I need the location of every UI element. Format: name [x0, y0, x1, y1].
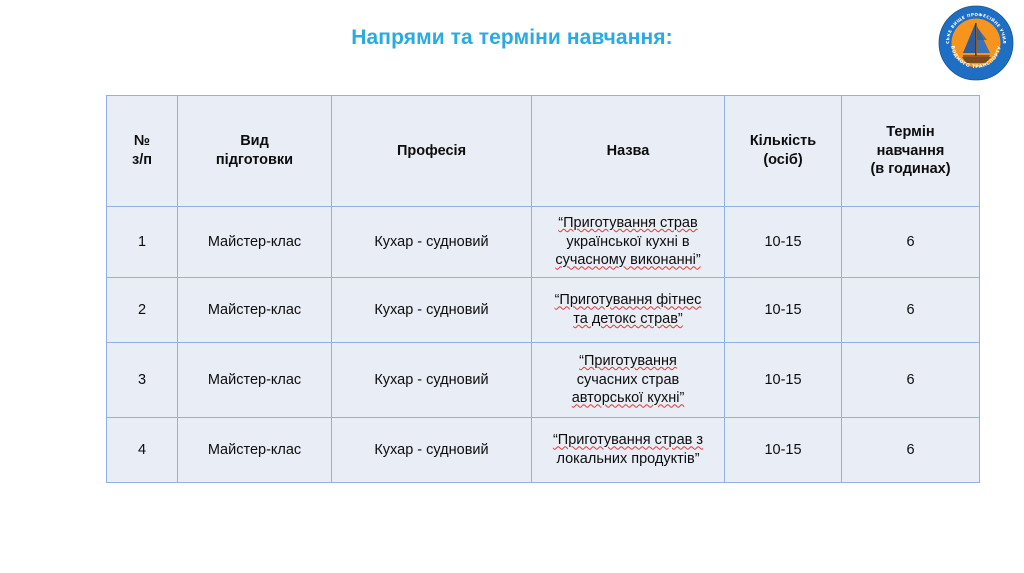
cell-number: 1 [107, 207, 178, 278]
column-header-name: Назва [532, 96, 725, 207]
cell-count: 10-15 [725, 278, 842, 343]
cell-training-type: Майстер-клас [178, 207, 332, 278]
cell-profession: Кухар - судновий [332, 278, 532, 343]
cell-training-type: Майстер-клас [178, 343, 332, 418]
name-line: сучасному виконанні” [555, 252, 700, 268]
cell-count: 10-15 [725, 418, 842, 483]
cell-duration: 6 [842, 418, 980, 483]
name-line: локальних продуктів” [556, 451, 699, 467]
cell-name: “Приготування фітнес та детокс страв” [532, 278, 725, 343]
page-title: Напрями та терміни навчання: [0, 26, 1024, 50]
cell-number: 4 [107, 418, 178, 483]
table-body: 1 Майстер-клас Кухар - судновий “Приготу… [107, 207, 980, 483]
cell-number: 3 [107, 343, 178, 418]
college-emblem-logo: КИЇВСЬКЕ ВИЩЕ ПРОФЕСІЙНЕ УЧИЛИЩЕ ВОДНОГО… [936, 3, 1016, 83]
column-header-count: Кількість (осіб) [725, 96, 842, 207]
name-line: сучасних страв [577, 372, 679, 388]
cell-profession: Кухар - судновий [332, 207, 532, 278]
cell-training-type: Майстер-клас [178, 278, 332, 343]
table-row: 4 Майстер-клас Кухар - судновий “Приготу… [107, 418, 980, 483]
header-line: Вид [240, 133, 269, 149]
cell-count: 10-15 [725, 343, 842, 418]
header-line: навчання [877, 143, 945, 159]
cell-profession: Кухар - судновий [332, 343, 532, 418]
name-line: “Приготування [579, 353, 677, 369]
cell-duration: 6 [842, 278, 980, 343]
name-line: “Приготування страв з [553, 432, 703, 448]
cell-duration: 6 [842, 207, 980, 278]
cell-name: “Приготування страв з локальних продукті… [532, 418, 725, 483]
name-line: та детокс страв” [573, 311, 683, 327]
cell-count: 10-15 [725, 207, 842, 278]
header-line: з/п [132, 152, 152, 168]
column-header-profession: Професія [332, 96, 532, 207]
column-header-duration: Термін навчання (в годинах) [842, 96, 980, 207]
table-row: 2 Майстер-клас Кухар - судновий “Приготу… [107, 278, 980, 343]
cell-profession: Кухар - судновий [332, 418, 532, 483]
header-line: Термін [886, 124, 934, 140]
name-line: української кухні в [566, 234, 689, 250]
table-header-row: № з/п Вид підготовки Професія Назва Кіль [107, 96, 980, 207]
table-header: № з/п Вид підготовки Професія Назва Кіль [107, 96, 980, 207]
column-header-training-type: Вид підготовки [178, 96, 332, 207]
name-line: “Приготування фітнес [555, 292, 702, 308]
header-line: Кількість [750, 133, 816, 149]
training-programs-table-wrapper: № з/п Вид підготовки Професія Назва Кіль [106, 95, 901, 483]
header-line: Назва [607, 143, 650, 159]
cell-name: “Приготування сучасних страв авторської … [532, 343, 725, 418]
header-line: Професія [397, 143, 466, 159]
cell-number: 2 [107, 278, 178, 343]
name-line: “Приготування страв [558, 215, 697, 231]
column-header-number: № з/п [107, 96, 178, 207]
header-line: (осіб) [763, 152, 802, 168]
table-row: 1 Майстер-клас Кухар - судновий “Приготу… [107, 207, 980, 278]
table-row: 3 Майстер-клас Кухар - судновий “Приготу… [107, 343, 980, 418]
header-line: № [134, 133, 150, 149]
name-line: авторської кухні” [572, 390, 685, 406]
cell-duration: 6 [842, 343, 980, 418]
training-programs-table: № з/п Вид підготовки Професія Назва Кіль [106, 95, 980, 483]
header-line: (в годинах) [870, 161, 950, 177]
presentation-slide: Напрями та терміни навчання: КИЇВСЬК [0, 0, 1024, 573]
cell-training-type: Майстер-клас [178, 418, 332, 483]
cell-name: “Приготування страв української кухні в … [532, 207, 725, 278]
header-line: підготовки [216, 152, 293, 168]
